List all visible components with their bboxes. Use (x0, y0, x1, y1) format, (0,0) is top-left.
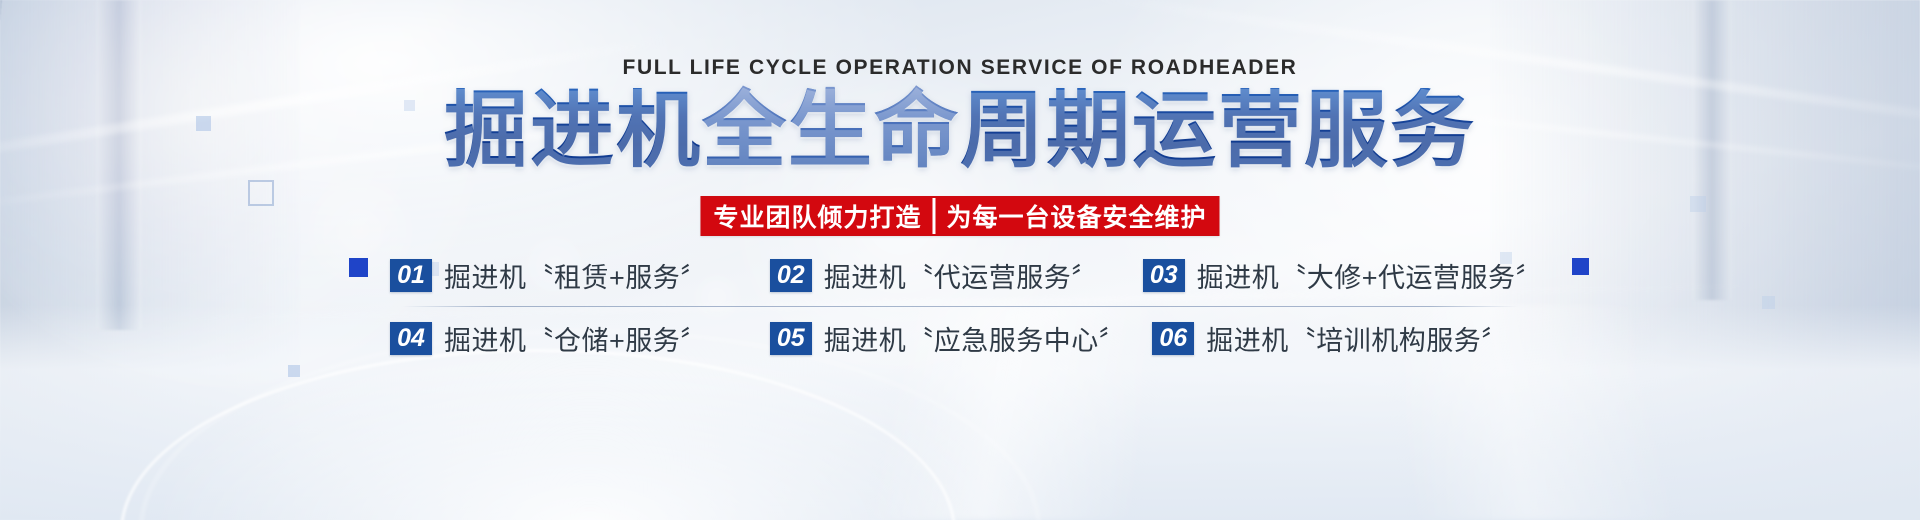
service-item-06[interactable]: 06 掘进机〝培训机构服务〞 (1152, 319, 1509, 358)
main-title: 掘进机全生命周期运营服务 (0, 88, 1920, 172)
service-list: 01 掘进机〝租赁+服务〞 02 掘进机〝代运营服务〞 03 掘进机〝大修+代运… (390, 244, 1530, 369)
service-number-badge: 04 (390, 322, 432, 355)
main-title-part-1: 掘进机 (444, 83, 702, 177)
banner-root: FULL LIFE CYCLE OPERATION SERVICE OF ROA… (0, 0, 1920, 520)
service-label: 掘进机〝大修+代运营服务〞 (1197, 256, 1543, 295)
red-slogan-banner: 专业团队倾力打造 为每一台设备安全维护 (700, 196, 1219, 236)
service-label: 掘进机〝租赁+服务〞 (444, 256, 708, 295)
service-label: 掘进机〝仓储+服务〞 (444, 319, 708, 358)
service-label: 掘进机〝代运营服务〞 (824, 256, 1099, 295)
service-number-badge: 05 (770, 322, 812, 355)
service-item-02[interactable]: 02 掘进机〝代运营服务〞 (770, 256, 1099, 295)
service-label: 掘进机〝应急服务中心〞 (824, 319, 1127, 358)
service-row-2: 04 掘进机〝仓储+服务〞 05 掘进机〝应急服务中心〞 06 掘进机〝培训机构… (390, 307, 1530, 369)
service-item-04[interactable]: 04 掘进机〝仓储+服务〞 (390, 319, 708, 358)
main-title-part-2: 全生命 (702, 83, 960, 177)
banner-content: FULL LIFE CYCLE OPERATION SERVICE OF ROA… (0, 0, 1920, 520)
service-number-badge: 06 (1152, 322, 1194, 355)
service-item-03[interactable]: 03 掘进机〝大修+代运营服务〞 (1143, 256, 1543, 295)
red-slogan-right: 为每一台设备安全维护 (936, 198, 1218, 234)
red-slogan-left: 专业团队倾力打造 (702, 198, 932, 234)
service-row-1: 01 掘进机〝租赁+服务〞 02 掘进机〝代运营服务〞 03 掘进机〝大修+代运… (390, 244, 1530, 306)
service-item-01[interactable]: 01 掘进机〝租赁+服务〞 (390, 256, 708, 295)
english-tagline: FULL LIFE CYCLE OPERATION SERVICE OF ROA… (0, 56, 1920, 80)
main-title-part-3: 周期运营服务 (960, 83, 1476, 177)
service-number-badge: 01 (390, 259, 432, 292)
service-item-05[interactable]: 05 掘进机〝应急服务中心〞 (770, 319, 1127, 358)
service-number-badge: 02 (770, 259, 812, 292)
service-number-badge: 03 (1143, 259, 1185, 292)
service-label: 掘进机〝培训机构服务〞 (1206, 319, 1509, 358)
